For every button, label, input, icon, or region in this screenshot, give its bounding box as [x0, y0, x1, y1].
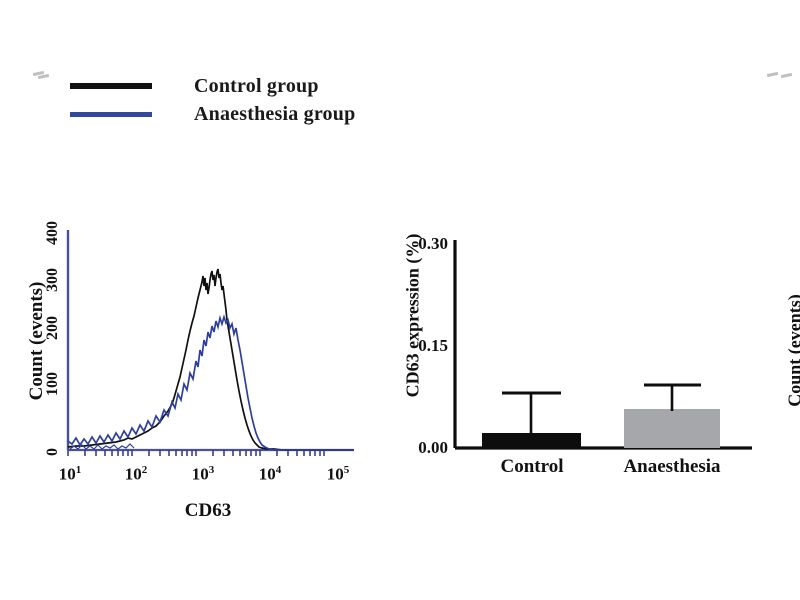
bar-chart-panel: CD63 expression (%) 0.30 0.15 0.00 — [360, 200, 760, 540]
bar-y-tick-group: 0.30 0.15 0.00 — [360, 200, 448, 460]
legend-swatch-anaesthesia-line — [70, 112, 152, 117]
histogram-trace-anaesthesia — [68, 317, 354, 450]
histogram-panel: Count (events) 400 300 200 100 0 — [0, 200, 380, 540]
histogram-xtick-10e2: 102 — [125, 464, 148, 485]
legend-item-control: Control group — [70, 72, 430, 100]
bar-ytick-015: 0.15 — [418, 336, 448, 356]
legend-swatch-control-line — [70, 83, 152, 89]
histogram-xtick-10e4: 104 — [259, 464, 282, 485]
bar-category-control: Control — [501, 456, 564, 478]
histogram-ytick-100: 100 — [44, 367, 62, 401]
bar-ytick-000: 0.00 — [418, 438, 448, 458]
histogram-trace-control — [68, 269, 354, 450]
histogram-ytick-300: 300 — [44, 263, 62, 297]
scan-artifact — [767, 72, 778, 77]
histogram-xtick-10e3: 103 — [192, 464, 215, 485]
histogram-x-axis-label: CD63 — [62, 500, 354, 522]
histogram-plot-area: 101 102 103 104 105 — [62, 228, 354, 450]
histogram-ytick-400: 400 — [44, 216, 62, 250]
histogram-ytick-200: 200 — [44, 311, 62, 345]
scan-artifact — [781, 73, 792, 78]
right-panel-y-axis-label: Count (events) — [785, 256, 800, 446]
scan-artifact — [38, 74, 49, 79]
bar-control — [482, 433, 581, 448]
legend-item-anaesthesia: Anaesthesia group — [70, 100, 430, 128]
bar-chart-graphic — [452, 200, 752, 470]
bar-category-anaesthesia: Anaesthesia — [623, 456, 720, 478]
legend: Control group Anaesthesia group — [70, 72, 430, 128]
legend-label-anaesthesia: Anaesthesia group — [194, 103, 355, 126]
bar-ytick-030: 0.30 — [418, 234, 448, 254]
histogram-xtick-10e5: 105 — [327, 464, 350, 485]
legend-label-control: Control group — [194, 75, 319, 98]
bar-anaesthesia — [624, 409, 720, 448]
figure-canvas: Control group Anaesthesia group Count (e… — [0, 0, 800, 600]
bar-plot-area: Control Anaesthesia — [452, 200, 752, 460]
histogram-xtick-10e1: 101 — [59, 464, 82, 485]
histogram-traces — [62, 228, 354, 456]
